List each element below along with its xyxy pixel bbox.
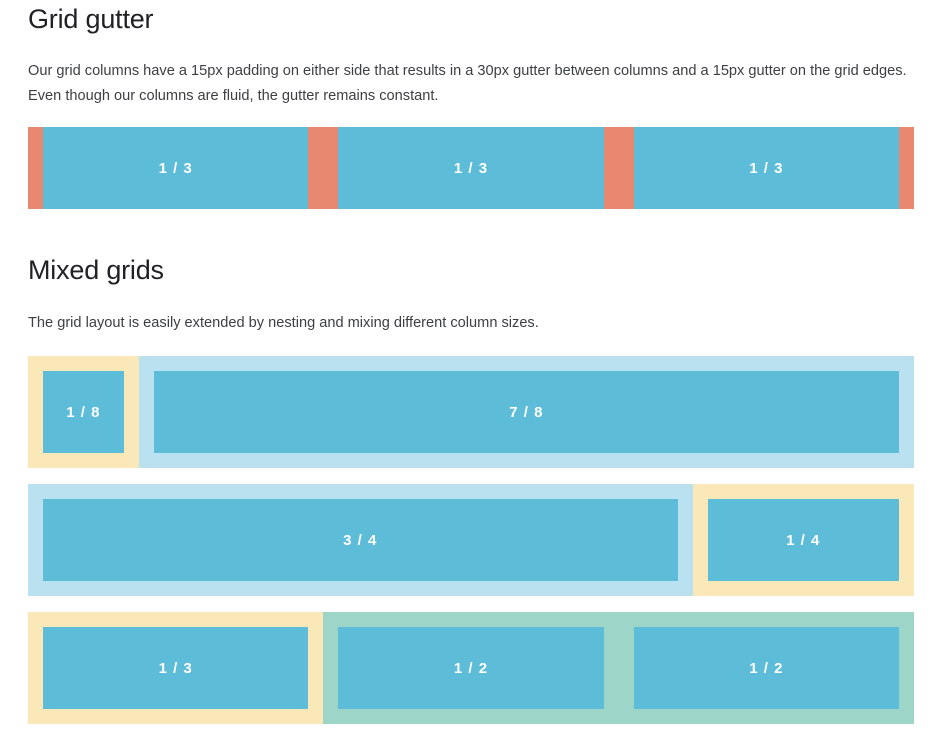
documentation-page: Grid gutter Our grid columns have a 15px…	[0, 0, 942, 729]
mixed-grid-row-3: 1 / 3 1 / 2 1 / 2	[28, 612, 914, 724]
mixed-cell-1-4: 1 / 4	[708, 499, 900, 581]
mixed-row-2-wrapper-lightblue: 3 / 4	[28, 484, 693, 596]
mixed-cell-1-8: 1 / 8	[43, 371, 124, 453]
mixed-row-3-wrapper-yellow: 1 / 3	[28, 612, 323, 724]
mixed-cell-7-8-label: 7 / 8	[509, 404, 543, 421]
gutter-edge-left	[28, 127, 43, 209]
mixed-cell-1-2-first: 1 / 2	[338, 627, 603, 709]
mixed-cell-1-8-label: 1 / 8	[66, 404, 100, 421]
mixed-row-1-wrapper-lightblue: 7 / 8	[139, 356, 914, 468]
mixed-cell-3-4-label: 3 / 4	[343, 532, 377, 549]
gutter-column-1: 1 / 3	[43, 127, 308, 209]
gutter-column-2-label: 1 / 3	[454, 160, 488, 177]
gutter-inner-2	[604, 127, 634, 209]
page-title-mixed-grids: Mixed grids	[28, 254, 164, 286]
mixed-cell-1-4-label: 1 / 4	[786, 532, 820, 549]
mixed-grid-row-1: 1 / 8 7 / 8	[28, 356, 914, 468]
mixed-cell-7-8: 7 / 8	[154, 371, 899, 453]
mixed-cell-1-3-label: 1 / 3	[159, 660, 193, 677]
gutter-column-1-label: 1 / 3	[159, 160, 193, 177]
mixed-row-1-wrapper-yellow: 1 / 8	[28, 356, 139, 468]
section-paragraph-grid-gutter: Our grid columns have a 15px padding on …	[28, 59, 912, 109]
grid-gutter-demo: 1 / 3 1 / 3 1 / 3	[28, 127, 914, 209]
gutter-edge-right	[899, 127, 914, 209]
mixed-cell-1-2-first-label: 1 / 2	[454, 660, 488, 677]
gutter-column-3: 1 / 3	[634, 127, 899, 209]
mixed-cell-1-3: 1 / 3	[43, 627, 308, 709]
mixed-row-3-wrapper-green: 1 / 2 1 / 2	[323, 612, 914, 724]
page-title-grid-gutter: Grid gutter	[28, 3, 153, 35]
mixed-cell-1-2-second-label: 1 / 2	[749, 660, 783, 677]
gutter-column-2: 1 / 3	[338, 127, 603, 209]
mixed-grid-row-2: 3 / 4 1 / 4	[28, 484, 914, 596]
mixed-cell-1-2-second: 1 / 2	[634, 627, 899, 709]
gutter-column-3-label: 1 / 3	[749, 160, 783, 177]
section-paragraph-mixed-grids: The grid layout is easily extended by ne…	[28, 311, 912, 336]
gutter-inner-1	[308, 127, 338, 209]
mixed-cell-3-4: 3 / 4	[43, 499, 678, 581]
mixed-row-2-wrapper-yellow: 1 / 4	[693, 484, 915, 596]
